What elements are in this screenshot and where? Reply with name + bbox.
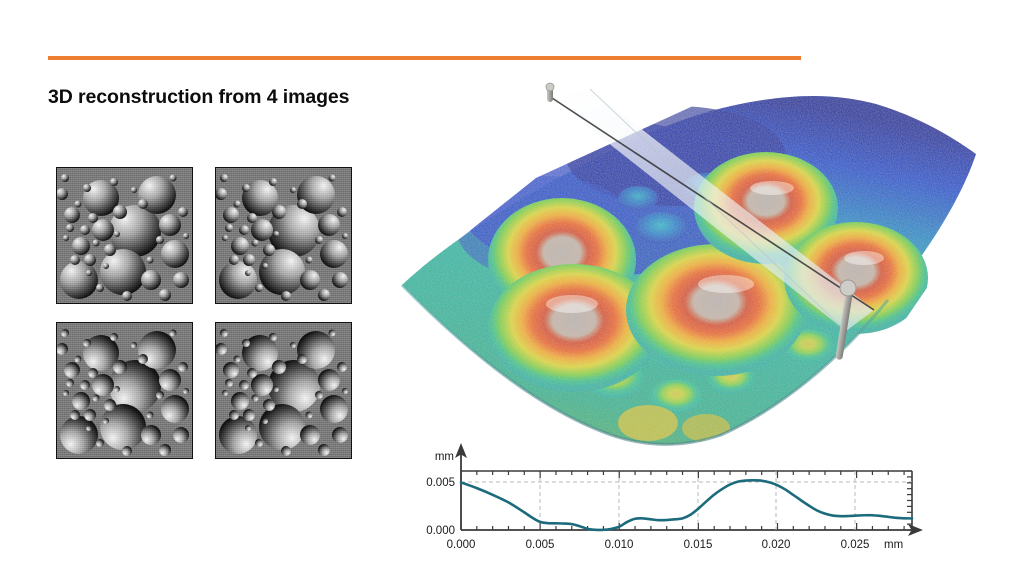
x-tick-label-4: 0.020: [762, 539, 791, 550]
surface-plate: [402, 96, 976, 444]
x-axis-unit-label: mm: [884, 539, 903, 550]
bubble-field-4: [216, 323, 351, 458]
profile-chart-svg: mm 0.005 0.000 0.000 0.005 0.010 0.015 0…: [414, 438, 924, 550]
x-axis: [461, 524, 923, 536]
x-tick-label-2: 0.010: [605, 539, 634, 550]
bubble-field-1: [57, 168, 192, 303]
bubble-field-2: [216, 168, 351, 303]
y-axis-unit-label: mm: [435, 451, 454, 463]
3d-height-map[interactable]: [376, 78, 996, 450]
profile-chart[interactable]: mm 0.005 0.000 0.000 0.005 0.010 0.015 0…: [414, 438, 924, 550]
bubble-field-3: [57, 323, 192, 458]
surface-svg: [376, 78, 996, 450]
slide-canvas: 3D reconstruction from 4 images: [0, 0, 1024, 576]
x-tick-label-1: 0.005: [526, 539, 555, 550]
grid-lines: [461, 471, 912, 530]
profile-curve: [461, 480, 912, 530]
input-image-2: [215, 167, 352, 304]
section-plane-handle-top[interactable]: [546, 83, 554, 102]
x-tick-label-3: 0.015: [684, 539, 713, 550]
accent-rule: [48, 56, 801, 60]
page-title: 3D reconstruction from 4 images: [48, 86, 349, 109]
axis-ticks: [461, 471, 912, 530]
y-tick-label-0005: 0.005: [426, 477, 455, 489]
x-tick-label-5: 0.025: [841, 539, 870, 550]
input-image-1: [56, 167, 193, 304]
y-tick-label-0000: 0.000: [426, 525, 455, 537]
input-image-3: [56, 322, 193, 459]
x-tick-label-0: 0.000: [447, 539, 476, 550]
input-image-4: [215, 322, 352, 459]
input-image-grid: [56, 167, 361, 472]
y-axis: [455, 443, 467, 530]
plot-frame: [461, 471, 912, 530]
